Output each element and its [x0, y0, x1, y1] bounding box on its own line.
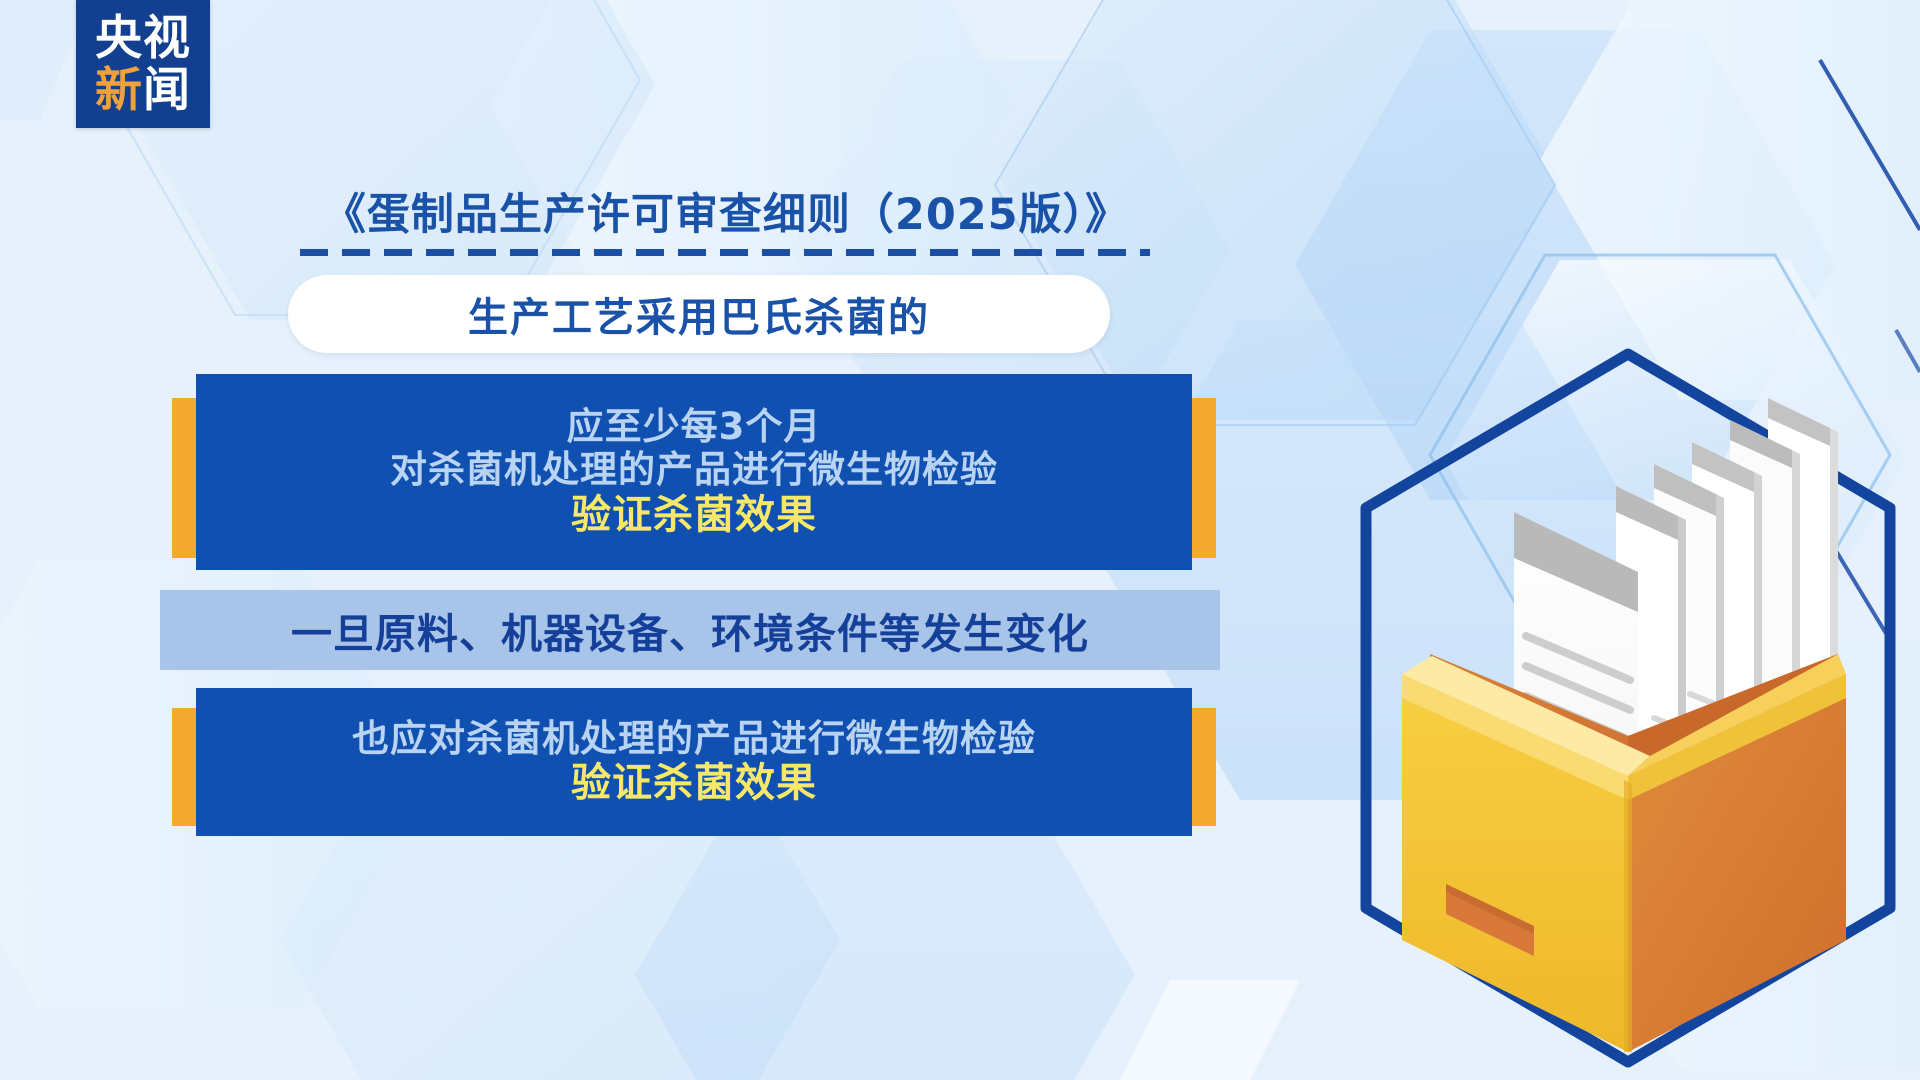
document-title: 《蛋制品生产许可审查细则（2025版）》 — [296, 182, 1156, 240]
subtitle-pill: 生产工艺采用巴氏杀菌的 — [288, 275, 1110, 353]
logo-char-xin: 新 — [95, 67, 143, 114]
logo-char-wen: 闻 — [143, 67, 191, 114]
cctv-news-logo: 央 视 新 闻 — [76, 0, 210, 128]
panel-one-line-2: 对杀菌机处理的产品进行微生物检验 — [390, 448, 998, 492]
panel-two: 也应对杀菌机处理的产品进行微生物检验 验证杀菌效果 — [196, 688, 1192, 836]
subtitle-pill-text: 生产工艺采用巴氏杀菌的 — [468, 285, 930, 343]
condition-band: 一旦原料、机器设备、环境条件等发生变化 — [160, 590, 1220, 670]
dashed-divider — [300, 249, 1150, 256]
document-file-box-illustration — [1338, 336, 1918, 1080]
panel-one-line-3: 验证杀菌效果 — [571, 492, 817, 539]
document-title-text: 《蛋制品生产许可审查细则（2025版）》 — [323, 180, 1129, 242]
panel-two-line-1: 也应对杀菌机处理的产品进行微生物检验 — [352, 717, 1036, 761]
panel-two-line-2: 验证杀菌效果 — [571, 760, 817, 807]
panel-one-line-1: 应至少每3个月 — [567, 405, 822, 449]
logo-char-yang: 央 — [95, 15, 143, 62]
logo-char-shi: 视 — [143, 15, 191, 62]
graphic-canvas: 央 视 新 闻 《蛋制品生产许可审查细则（2025版）》 生产工艺采用巴氏杀菌的… — [0, 0, 1920, 1080]
logo-line-two: 新 闻 — [95, 67, 191, 114]
logo-line-one: 央 视 — [95, 15, 191, 62]
panel-one: 应至少每3个月 对杀菌机处理的产品进行微生物检验 验证杀菌效果 — [196, 374, 1192, 570]
condition-band-text: 一旦原料、机器设备、环境条件等发生变化 — [291, 600, 1089, 660]
